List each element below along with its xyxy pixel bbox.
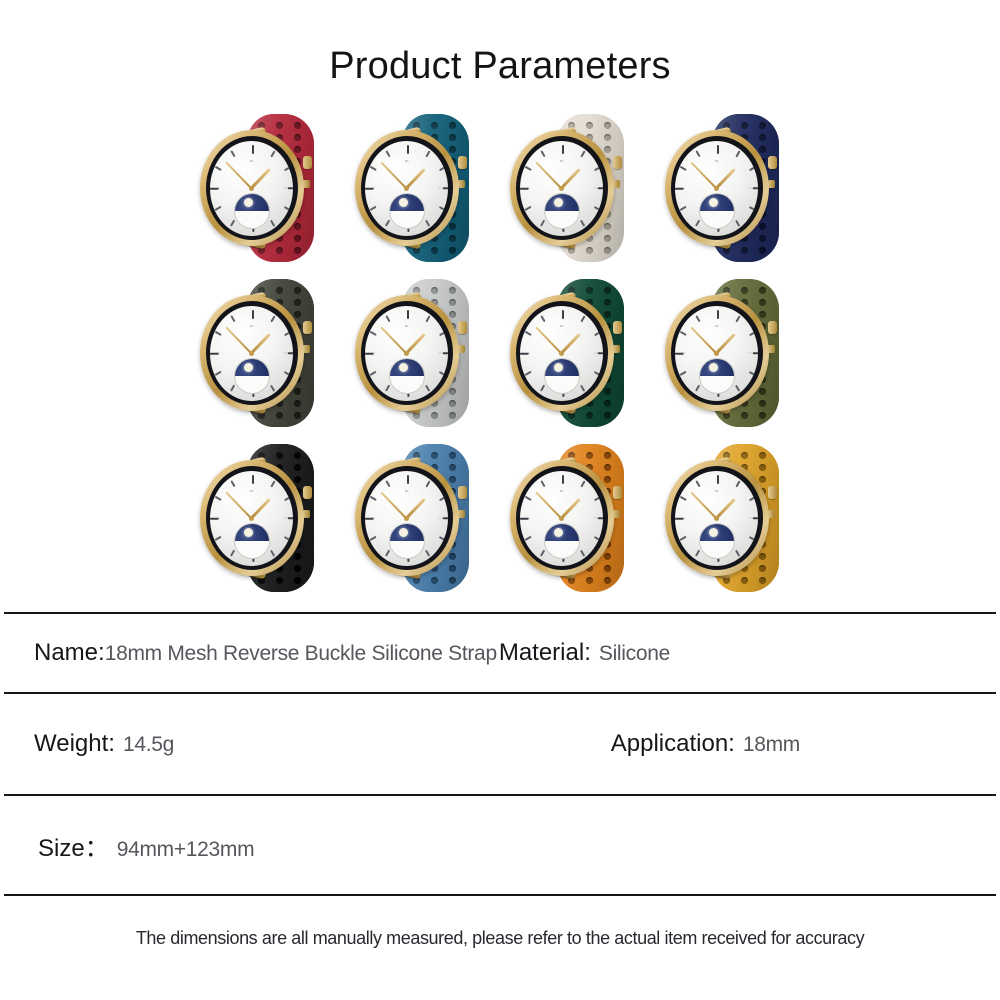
strap-perforation [604,247,611,254]
strap-perforation [604,388,611,395]
moon-icon [709,528,718,537]
strap-perforation [449,388,456,395]
watch-case: •••▫▫▫▫ [200,460,304,576]
strap-perforation [294,311,301,318]
watch-image: •••▫▫▫▫ [349,273,497,433]
strap-perforation [586,122,593,129]
minute-hand [226,492,253,520]
spec-label-size: Size： [38,828,109,863]
watch-image: •••▫▫▫▫ [659,108,807,268]
spec-label-application: Application: [611,730,735,758]
strap-perforation [449,452,456,459]
strap-perforation [759,553,766,560]
watch-image: •••▫▫▫▫ [349,108,497,268]
minute-hand [691,492,718,520]
strap-perforation [759,235,766,242]
pusher-button [303,180,310,188]
strap-perforation [604,287,611,294]
watch-case: •••▫▫▫▫ [665,295,769,411]
strap-perforation [741,577,748,584]
moon-phase-subdial [699,193,735,229]
watch-image: •••▫▫▫▫ [659,438,807,598]
minute-hand [536,327,563,355]
crown [768,321,777,334]
moon-icon [554,198,563,207]
strap-perforation [586,287,593,294]
strap-perforation [759,400,766,407]
strap-perforation [431,247,438,254]
strap-perforation [294,452,301,459]
strap-perforation [759,223,766,230]
minute-hand [226,162,253,190]
minute-hand [536,162,563,190]
strap-perforation [276,287,283,294]
moon-phase-subdial [699,358,735,394]
watch-dial: •••▫▫▫▫ [365,141,448,236]
strap-perforation [449,412,456,419]
product-image-gallery: •••▫▫▫▫•••▫▫▫▫•••▫▫▫▫•••▫▫▫▫•••▫▫▫▫•••▫▫… [190,106,810,601]
strap-perforation [449,476,456,483]
minute-hand [536,492,563,520]
crown [613,156,622,169]
crown [303,156,312,169]
watch-image: •••▫▫▫▫ [504,273,652,433]
strap-perforation [741,287,748,294]
strap-perforation [294,287,301,294]
moon-icon [244,528,253,537]
strap-perforation [759,452,766,459]
crown [458,486,467,499]
product-variant-beige[interactable]: •••▫▫▫▫ [500,106,655,271]
strap-perforation [759,134,766,141]
pusher-button [303,345,310,353]
minute-hand [381,492,408,520]
strap-perforation [759,311,766,318]
moon-phase-subdial [389,358,425,394]
watch-dial: •••▫▫▫▫ [675,306,758,401]
spec-label-name: Name: [34,639,105,667]
strap-perforation [431,122,438,129]
crown [613,321,622,334]
spec-value-name: 18mm Mesh Reverse Buckle Silicone Strap [105,642,497,666]
strap-perforation [449,287,456,294]
watch-case: •••▫▫▫▫ [355,460,459,576]
strap-perforation [294,223,301,230]
strap-perforation [294,247,301,254]
pusher-button [458,510,465,518]
strap-perforation [604,122,611,129]
strap-perforation [449,565,456,572]
watch-case: •••▫▫▫▫ [510,460,614,576]
strap-perforation [604,476,611,483]
moon-phase-subdial [389,523,425,559]
strap-perforation [759,122,766,129]
pusher-button [613,510,620,518]
spec-value-size: 94mm+123mm [109,838,255,862]
product-variant-light-grey[interactable]: •••▫▫▫▫ [345,271,500,436]
strap-perforation [449,223,456,230]
strap-perforation [449,400,456,407]
strap-perforation [741,412,748,419]
strap-perforation [294,388,301,395]
spec-row-size: Size： 94mm+123mm [4,796,996,894]
strap-perforation [276,577,283,584]
strap-perforation [604,464,611,471]
strap-perforation [431,287,438,294]
spec-value-material: Silicone [591,642,670,666]
strap-perforation [294,122,301,129]
strap-perforation [276,122,283,129]
specification-table: Name: 18mm Mesh Reverse Buckle Silicone … [4,612,996,896]
product-variant-steel-blue[interactable]: •••▫▫▫▫ [345,436,500,601]
strap-perforation [294,235,301,242]
crown [458,321,467,334]
spec-field-application: Application: 18mm [611,730,996,758]
watch-image: •••▫▫▫▫ [659,273,807,433]
watch-dial: •••▫▫▫▫ [675,471,758,566]
spec-value-application: 18mm [735,733,800,757]
strap-perforation [294,134,301,141]
strap-perforation [604,412,611,419]
crown [768,156,777,169]
moon-icon [244,198,253,207]
crown [303,486,312,499]
strap-perforation [759,577,766,584]
strap-perforation [604,452,611,459]
strap-perforation [586,412,593,419]
strap-perforation [449,577,456,584]
measurement-disclaimer: The dimensions are all manually measured… [0,928,1000,949]
moon-phase-subdial [544,523,580,559]
spec-row-name-material: Name: 18mm Mesh Reverse Buckle Silicone … [4,614,996,692]
pusher-button [768,180,775,188]
watch-image: •••▫▫▫▫ [194,438,342,598]
pusher-button [768,510,775,518]
product-variant-navy-blue[interactable]: •••▫▫▫▫ [655,106,810,271]
strap-perforation [604,146,611,153]
spec-field-material: Material: Silicone [497,639,670,667]
crown [458,156,467,169]
pusher-button [458,180,465,188]
strap-perforation [604,223,611,230]
moon-icon [399,198,408,207]
product-variant-red[interactable]: •••▫▫▫▫ [190,106,345,271]
strap-perforation [604,577,611,584]
watch-case: •••▫▫▫▫ [510,130,614,246]
strap-perforation [759,299,766,306]
watch-dial: •••▫▫▫▫ [210,471,293,566]
strap-perforation [294,464,301,471]
moon-icon [709,363,718,372]
spec-value-weight: 14.5g [115,733,174,757]
strap-perforation [759,247,766,254]
strap-perforation [449,146,456,153]
strap-perforation [759,476,766,483]
product-variant-dark-green[interactable]: •••▫▫▫▫ [500,271,655,436]
product-variant-mustard-yellow[interactable]: •••▫▫▫▫ [655,436,810,601]
pusher-button [303,510,310,518]
watch-dial: •••▫▫▫▫ [675,141,758,236]
watch-dial: •••▫▫▫▫ [520,471,603,566]
minute-hand [691,327,718,355]
spec-label-weight: Weight: [34,730,115,758]
strap-perforation [294,565,301,572]
strap-perforation [449,235,456,242]
moon-phase-subdial [389,193,425,229]
moon-icon [554,528,563,537]
strap-perforation [276,247,283,254]
strap-perforation [759,287,766,294]
strap-perforation [449,464,456,471]
spec-label-material: Material: [499,639,591,667]
moon-phase-subdial [234,193,270,229]
strap-perforation [604,311,611,318]
strap-perforation [759,464,766,471]
strap-perforation [449,299,456,306]
pusher-button [458,345,465,353]
moon-phase-subdial [234,523,270,559]
spec-field-name: Name: 18mm Mesh Reverse Buckle Silicone … [4,639,497,667]
moon-icon [244,363,253,372]
product-variant-orange[interactable]: •••▫▫▫▫ [500,436,655,601]
pusher-button [613,345,620,353]
strap-perforation [741,247,748,254]
product-variant-teal-blue[interactable]: •••▫▫▫▫ [345,106,500,271]
crown [303,321,312,334]
watch-image: •••▫▫▫▫ [504,108,652,268]
minute-hand [381,162,408,190]
crown [768,486,777,499]
watch-image: •••▫▫▫▫ [194,273,342,433]
product-variant-black[interactable]: •••▫▫▫▫ [190,436,345,601]
strap-perforation [294,146,301,153]
strap-perforation [449,553,456,560]
moon-phase-subdial [234,358,270,394]
product-variant-army-green[interactable]: •••▫▫▫▫ [655,271,810,436]
strap-perforation [449,247,456,254]
spec-field-size: Size： 94mm+123mm [4,828,254,863]
strap-perforation [294,553,301,560]
strap-perforation [586,452,593,459]
watch-case: •••▫▫▫▫ [355,295,459,411]
strap-perforation [759,388,766,395]
strap-perforation [604,134,611,141]
strap-perforation [294,299,301,306]
watch-case: •••▫▫▫▫ [510,295,614,411]
strap-perforation [431,577,438,584]
minute-hand [226,327,253,355]
watch-image: •••▫▫▫▫ [504,438,652,598]
strap-perforation [449,311,456,318]
watch-image: •••▫▫▫▫ [349,438,497,598]
pusher-button [613,180,620,188]
strap-perforation [431,412,438,419]
moon-phase-subdial [544,358,580,394]
strap-perforation [449,122,456,129]
strap-perforation [604,299,611,306]
strap-perforation [604,235,611,242]
strap-perforation [604,565,611,572]
strap-perforation [294,476,301,483]
strap-perforation [586,577,593,584]
strap-perforation [741,122,748,129]
watch-dial: •••▫▫▫▫ [365,471,448,566]
strap-perforation [294,577,301,584]
strap-perforation [759,146,766,153]
moon-phase-subdial [544,193,580,229]
strap-perforation [276,452,283,459]
moon-icon [709,198,718,207]
strap-perforation [449,134,456,141]
strap-perforation [741,452,748,459]
strap-perforation [759,565,766,572]
watch-case: •••▫▫▫▫ [200,130,304,246]
watch-dial: •••▫▫▫▫ [210,141,293,236]
strap-perforation [759,412,766,419]
page-title: Product Parameters [0,0,1000,88]
moon-icon [554,363,563,372]
moon-phase-subdial [699,523,735,559]
product-variant-dark-olive-grey[interactable]: •••▫▫▫▫ [190,271,345,436]
divider-bottom [4,894,996,896]
strap-perforation [586,247,593,254]
minute-hand [691,162,718,190]
spec-row-weight-application: Weight: 14.5g Application: 18mm [4,694,996,794]
minute-hand [381,327,408,355]
strap-perforation [294,412,301,419]
pusher-button [768,345,775,353]
moon-icon [399,528,408,537]
watch-dial: •••▫▫▫▫ [210,306,293,401]
spec-field-weight: Weight: 14.5g [4,730,174,758]
watch-image: •••▫▫▫▫ [194,108,342,268]
strap-perforation [604,553,611,560]
watch-dial: •••▫▫▫▫ [520,306,603,401]
strap-perforation [276,412,283,419]
strap-perforation [431,452,438,459]
strap-perforation [294,400,301,407]
watch-dial: •••▫▫▫▫ [520,141,603,236]
watch-case: •••▫▫▫▫ [665,460,769,576]
watch-case: •••▫▫▫▫ [200,295,304,411]
strap-perforation [604,400,611,407]
moon-icon [399,363,408,372]
watch-case: •••▫▫▫▫ [665,130,769,246]
crown [613,486,622,499]
watch-dial: •••▫▫▫▫ [365,306,448,401]
watch-case: •••▫▫▫▫ [355,130,459,246]
